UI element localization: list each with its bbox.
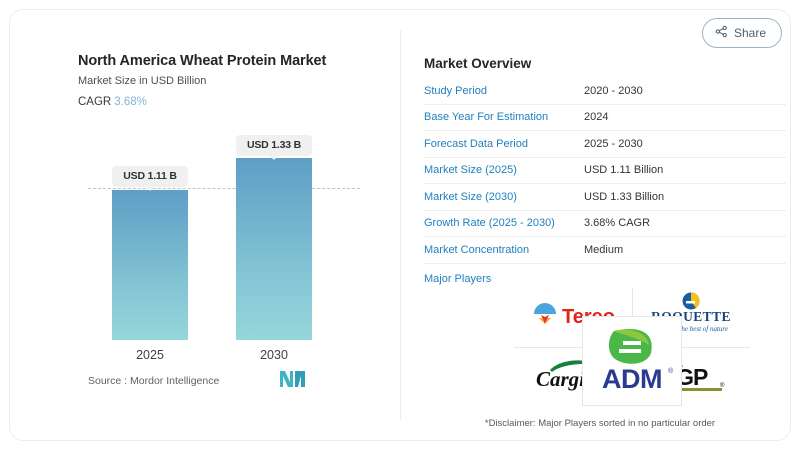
- row-value: Medium: [584, 244, 623, 256]
- table-row: Growth Rate (2025 - 2030) 3.68% CAGR: [424, 211, 786, 238]
- major-players-logo-grid: Tereos ROQUETTE Offering the best of nat…: [514, 288, 750, 406]
- row-value: USD 1.11 Billion: [584, 164, 663, 176]
- mordor-intelligence-logo-icon: [280, 370, 306, 393]
- table-row: Market Size (2030) USD 1.33 Billion: [424, 184, 786, 211]
- bar-label-2030: USD 1.33 B: [236, 135, 312, 156]
- row-label: Growth Rate (2025 - 2030): [424, 217, 584, 229]
- panel-divider: [400, 30, 401, 420]
- adm-logo-icon: ADM ®: [589, 325, 675, 398]
- x-tick-2025: 2025: [112, 348, 188, 362]
- disclaimer-text: *Disclaimer: Major Players sorted in no …: [420, 418, 780, 429]
- overview-table: Study Period 2020 - 2030 Base Year For E…: [424, 78, 786, 294]
- major-players-label: Major Players: [424, 273, 584, 285]
- table-row: Market Concentration Medium: [424, 237, 786, 264]
- table-row: Base Year For Estimation 2024: [424, 105, 786, 132]
- row-label: Market Size (2030): [424, 191, 584, 203]
- reference-dashed-line: [88, 188, 360, 189]
- row-label: Market Concentration: [424, 244, 584, 256]
- row-label: Base Year For Estimation: [424, 111, 584, 123]
- overview-heading: Market Overview: [424, 56, 531, 71]
- row-value: 2025 - 2030: [584, 138, 643, 150]
- row-value: USD 1.33 Billion: [584, 191, 664, 203]
- table-row: Forecast Data Period 2025 - 2030: [424, 131, 786, 158]
- share-button-label: Share: [734, 26, 766, 40]
- row-label: Study Period: [424, 85, 584, 97]
- x-tick-2030: 2030: [236, 348, 312, 362]
- share-nodes-icon: [715, 25, 728, 41]
- row-label: Market Size (2025): [424, 164, 584, 176]
- overview-panel: Share Market Overview Study Period 2020 …: [410, 10, 790, 440]
- svg-text:®: ®: [668, 367, 674, 375]
- bar-2025[interactable]: [112, 190, 188, 340]
- logo-cell-adm: ADM ®: [582, 316, 682, 406]
- share-button[interactable]: Share: [702, 18, 782, 48]
- row-value: 2020 - 2030: [584, 85, 643, 97]
- bar-label-2025: USD 1.11 B: [112, 166, 188, 187]
- row-label: Forecast Data Period: [424, 138, 584, 150]
- chart-panel: North America Wheat Protein Market Marke…: [10, 10, 390, 440]
- row-value: 3.68% CAGR: [584, 217, 650, 229]
- bar-2030[interactable]: [236, 158, 312, 340]
- svg-text:®: ®: [720, 382, 725, 389]
- row-value: 2024: [584, 111, 608, 123]
- svg-text:ADM: ADM: [602, 364, 662, 393]
- bar-chart-plot: USD 1.11 B USD 1.33 B 2025 2030: [10, 10, 400, 410]
- market-summary-infographic: North America Wheat Protein Market Marke…: [0, 0, 800, 450]
- table-row: Study Period 2020 - 2030: [424, 78, 786, 105]
- source-text: Source : Mordor Intelligence: [88, 375, 219, 387]
- table-row: Market Size (2025) USD 1.11 Billion: [424, 158, 786, 185]
